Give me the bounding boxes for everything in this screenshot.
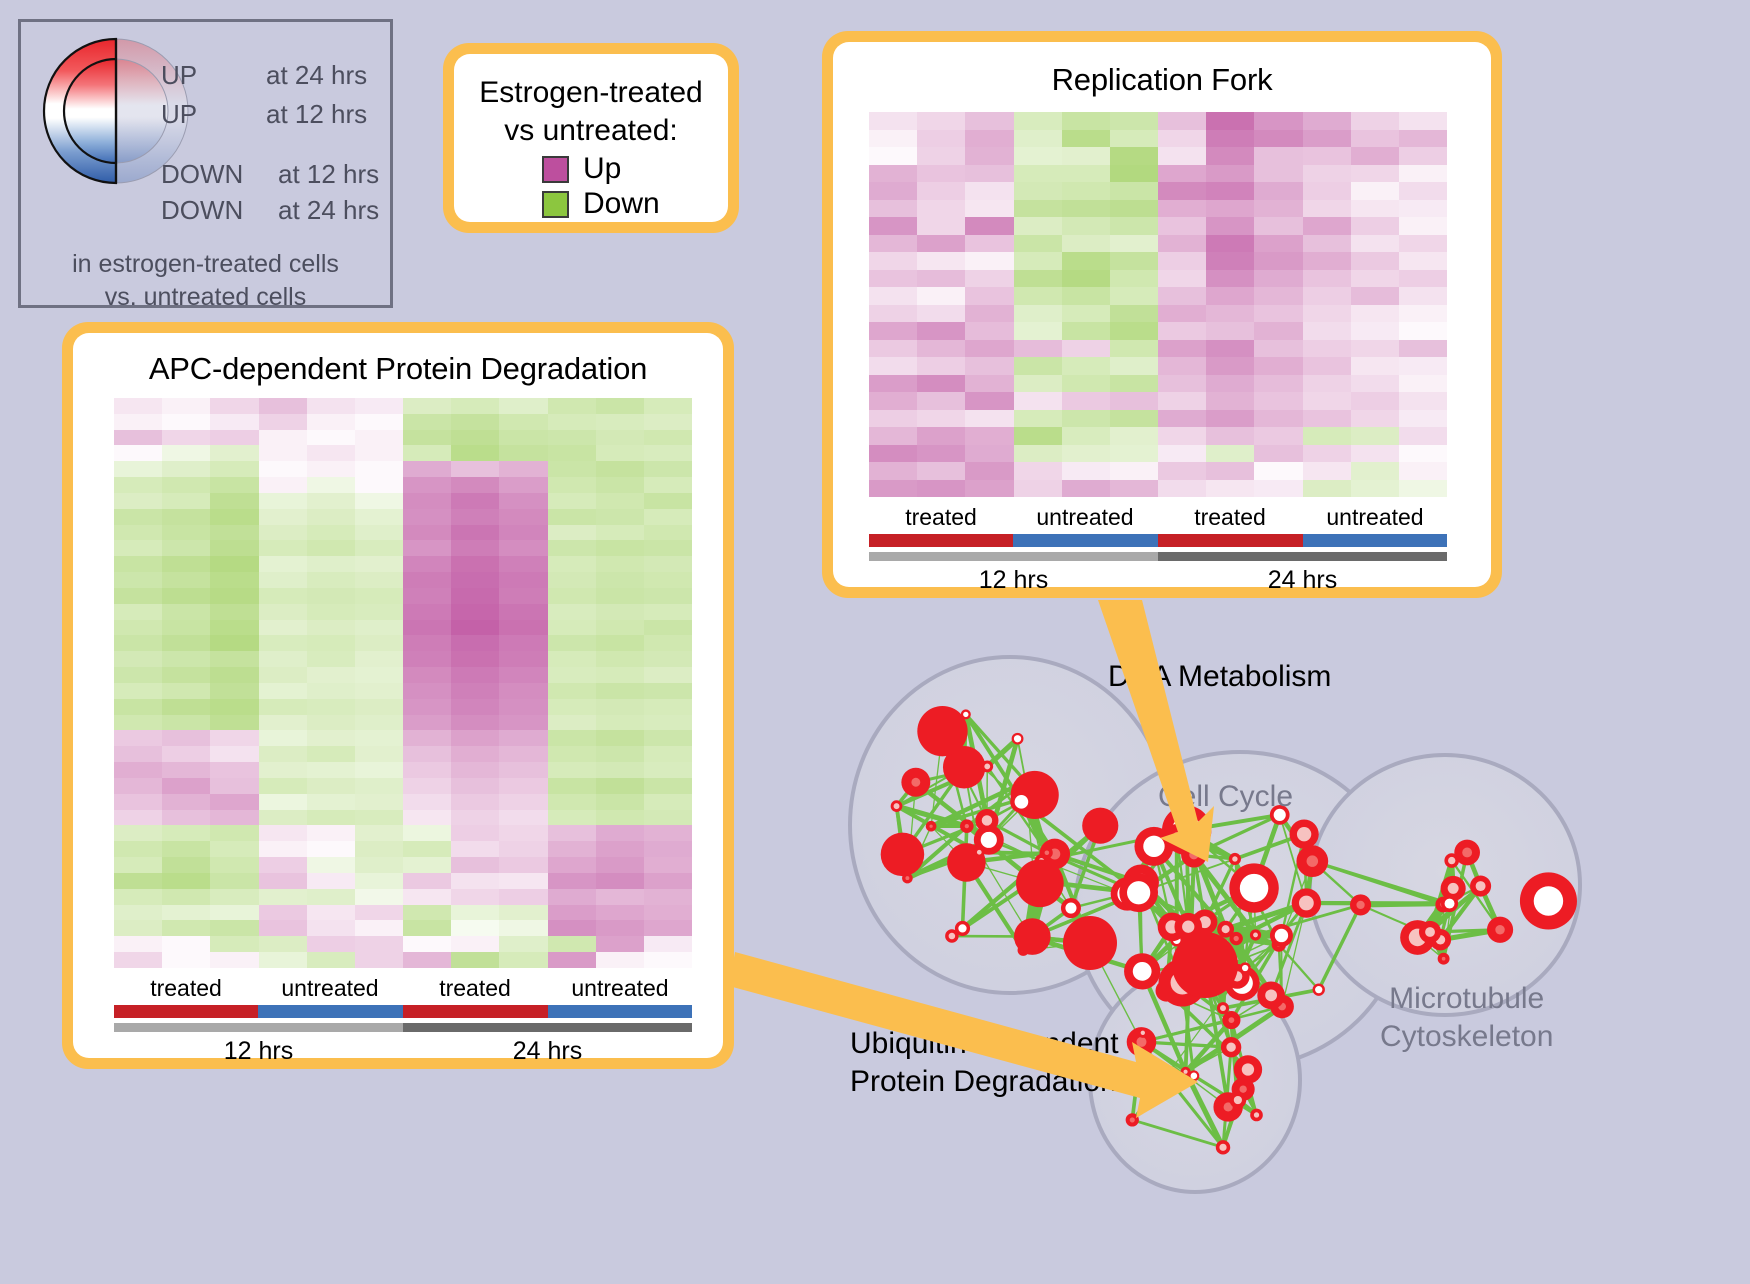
heatmap-cell (1399, 182, 1447, 200)
network-node[interactable] (1222, 1011, 1240, 1029)
network-node[interactable] (1016, 859, 1064, 907)
heatmap-cell (403, 540, 451, 556)
network-node[interactable] (1119, 873, 1158, 912)
heatmap-cell (596, 905, 644, 921)
heatmap-cell (596, 540, 644, 556)
heatmap-cell (965, 182, 1013, 200)
heatmap-cell (548, 920, 596, 936)
heatmap-cell (1158, 340, 1206, 358)
heatmap-cell (355, 873, 403, 889)
heatmap-cell (1351, 480, 1399, 498)
heatmap-cell (596, 525, 644, 541)
heatmap-cell (210, 540, 258, 556)
heatmap-cell (162, 889, 210, 905)
heatmap-cell (548, 540, 596, 556)
heatmap-cell (307, 762, 355, 778)
heatmap-cell (644, 746, 692, 762)
apc-degradation-heatmap (114, 398, 692, 968)
heatmap-cell (1062, 235, 1110, 253)
heatmap-cell (1351, 322, 1399, 340)
heatmap-cell (451, 936, 499, 952)
heatmap-cell (548, 651, 596, 667)
network-node-inner (1127, 881, 1150, 904)
heatmap-cell (355, 620, 403, 636)
network-node[interactable] (960, 819, 974, 833)
heatmap-cell (355, 588, 403, 604)
heatmap-cell (965, 410, 1013, 428)
heatmap-cell (1303, 287, 1351, 305)
network-node-inner (981, 832, 997, 848)
network-node[interactable] (1181, 842, 1207, 868)
apc-time-label-12: 12 hrs (114, 1037, 403, 1066)
heatmap-cell (1254, 130, 1302, 148)
heatmap-cell (1158, 165, 1206, 183)
heatmap-cell (596, 936, 644, 952)
heatmap-cell (259, 810, 307, 826)
cluster-label-microtubule-cytoskeleton: Microtubule Cytoskeleton (1380, 980, 1553, 1056)
figure-root: UP at 24 hrs UP at 12 hrs DOWN at 12 hrs… (0, 0, 1750, 1279)
apc-degradation-inner: APC-dependent Protein Degradation treate… (73, 333, 723, 1058)
heatmap-cell (355, 525, 403, 541)
heatmap-cell (1014, 340, 1062, 358)
heatmap-cell (1062, 480, 1110, 498)
heatmap-cell (1158, 287, 1206, 305)
heatmap-cell (114, 952, 162, 968)
network-node[interactable] (945, 929, 958, 942)
heatmap-cell (1399, 235, 1447, 253)
heatmap-cell (259, 604, 307, 620)
heatmap-cell (355, 905, 403, 921)
heatmap-cell (403, 635, 451, 651)
heatmap-cell (1014, 322, 1062, 340)
network-node[interactable] (1438, 953, 1450, 965)
heatmap-cell (403, 477, 451, 493)
network-node-inner (1234, 1096, 1242, 1104)
heatmap-cell (644, 730, 692, 746)
network-node[interactable] (981, 761, 993, 773)
heatmap-cell (499, 730, 547, 746)
network-node[interactable] (1010, 791, 1032, 813)
heatmap-cell (548, 778, 596, 794)
heatmap-cell (596, 493, 644, 509)
heatmap-cell (499, 841, 547, 857)
heatmap-cell (1014, 217, 1062, 235)
heatmap-cell (403, 952, 451, 968)
heatmap-cell (499, 699, 547, 715)
heatmap-cell (403, 683, 451, 699)
network-node[interactable] (1230, 932, 1243, 945)
heatmap-cell (162, 477, 210, 493)
network-node[interactable] (1470, 876, 1491, 897)
network-node[interactable] (1041, 847, 1053, 859)
legend-label-down: Down (583, 189, 660, 219)
heatmap-cell (499, 905, 547, 921)
heatmap-cell (548, 810, 596, 826)
heatmap-cell (1062, 340, 1110, 358)
heatmap-cell (1206, 410, 1254, 428)
heatmap-cell (1158, 252, 1206, 270)
heatmap-cell (644, 572, 692, 588)
network-node[interactable] (881, 833, 925, 877)
network-node-inner (929, 825, 932, 828)
network-node[interactable] (1250, 1109, 1263, 1122)
network-node-inner (1307, 855, 1318, 866)
network-node[interactable] (1126, 1113, 1139, 1126)
heatmap-cell (307, 778, 355, 794)
network-node-inner (958, 924, 966, 932)
heatmap-cell (355, 825, 403, 841)
network-node-inner (1297, 827, 1311, 841)
heatmap-cell (596, 746, 644, 762)
heatmap-cell (162, 794, 210, 810)
network-node[interactable] (1082, 808, 1118, 844)
network-node-inner (1476, 881, 1486, 891)
heatmap-cell (162, 572, 210, 588)
heatmap-cell (917, 480, 965, 498)
network-node[interactable] (1270, 924, 1293, 947)
heatmap-cell (917, 375, 965, 393)
heatmap-cell (259, 620, 307, 636)
heatmap-cell (1254, 235, 1302, 253)
network-node[interactable] (975, 809, 998, 832)
heatmap-cell (1351, 200, 1399, 218)
heatmap-cell (548, 746, 596, 762)
heatmap-cell (307, 841, 355, 857)
heatmap-cell (1399, 305, 1447, 323)
heatmap-cell (114, 905, 162, 921)
network-node-inner (1253, 933, 1258, 938)
heatmap-cell (307, 398, 355, 414)
heatmap-cell (307, 730, 355, 746)
network-node[interactable] (1454, 840, 1480, 866)
heatmap-cell (162, 699, 210, 715)
network-node-inner (1189, 850, 1198, 859)
heatmap-cell (644, 841, 692, 857)
heatmap-cell (499, 762, 547, 778)
heatmap-cell (403, 651, 451, 667)
network-node[interactable] (1257, 982, 1285, 1010)
heatmap-cell (403, 841, 451, 857)
heatmap-cell (1158, 462, 1206, 480)
heatmap-cell (1351, 340, 1399, 358)
heatmap-cell (1110, 182, 1158, 200)
heatmap-cell (162, 509, 210, 525)
apc-group-label-0: treated (114, 975, 258, 1002)
heatmap-cell (965, 480, 1013, 498)
heatmap-cell (869, 305, 917, 323)
heatmap-cell (1014, 165, 1062, 183)
heatmap-cell (917, 165, 965, 183)
heatmap-cell (114, 540, 162, 556)
heatmap-cell (403, 414, 451, 430)
heatmap-cell (869, 217, 917, 235)
heatmap-cell (1110, 235, 1158, 253)
network-node[interactable] (1138, 1028, 1148, 1038)
heatmap-cell (499, 667, 547, 683)
heatmap-cell (355, 477, 403, 493)
heatmap-cell (548, 509, 596, 525)
heatmap-cell (355, 889, 403, 905)
heatmap-cell (114, 794, 162, 810)
heatmap-cell (307, 873, 355, 889)
heatmap-cell (1158, 480, 1206, 498)
heatmap-cell (307, 920, 355, 936)
heatmap-cell (451, 651, 499, 667)
heatmap-cell (403, 667, 451, 683)
heatmap-cell (114, 525, 162, 541)
network-node-inner (1232, 856, 1237, 861)
heatmap-cell (114, 730, 162, 746)
heatmap-cell (1110, 462, 1158, 480)
heatmap-cell (499, 620, 547, 636)
legend-heading-line1: Estrogen-treated (454, 74, 728, 112)
heatmap-cell (499, 588, 547, 604)
heatmap-cell (210, 398, 258, 414)
heatmap-cell (869, 410, 917, 428)
heatmap-cell (451, 604, 499, 620)
heatmap-cell (1014, 287, 1062, 305)
heatmap-cell (210, 936, 258, 952)
heatmap-cell (644, 905, 692, 921)
apc-group-bar-untreated-24 (548, 1005, 692, 1018)
heatmap-cell (1351, 305, 1399, 323)
heatmap-cell (403, 920, 451, 936)
network-node[interactable] (1014, 918, 1051, 955)
network-node[interactable] (1350, 894, 1371, 915)
heatmap-cell (1303, 270, 1351, 288)
network-node-inner (1136, 1037, 1146, 1047)
network-node-outer (881, 833, 925, 877)
network-node[interactable] (1221, 1037, 1241, 1057)
heatmap-cell (403, 936, 451, 952)
heatmap-cell (210, 715, 258, 731)
heatmap-cell (162, 430, 210, 446)
heatmap-cell (644, 414, 692, 430)
heatmap-cell (210, 778, 258, 794)
heatmap-cell (596, 667, 644, 683)
heatmap-cell (403, 778, 451, 794)
heatmap-cell (965, 357, 1013, 375)
network-node-outer (1172, 932, 1238, 998)
heatmap-cell (355, 604, 403, 620)
rf-group-label-1: untreated (1013, 504, 1157, 531)
heatmap-cell (869, 392, 917, 410)
heatmap-cell (1254, 392, 1302, 410)
heatmap-cell (1158, 392, 1206, 410)
network-node[interactable] (1230, 1092, 1247, 1109)
network-node[interactable] (1296, 845, 1328, 877)
network-node-inner (1448, 857, 1455, 864)
heatmap-cell (162, 445, 210, 461)
heatmap-cell (548, 556, 596, 572)
legend-item-up: Up (542, 154, 621, 184)
heatmap-cell (355, 540, 403, 556)
heatmap-cell (451, 857, 499, 873)
heatmap-cell (917, 322, 965, 340)
network-node[interactable] (1487, 917, 1513, 943)
heatmap-cell (499, 525, 547, 541)
heatmap-cell (1351, 392, 1399, 410)
heatmap-cell (1303, 392, 1351, 410)
heatmap-cell (1014, 427, 1062, 445)
heatmap-cell (965, 340, 1013, 358)
heatmap-cell (1399, 375, 1447, 393)
heatmap-cell (403, 572, 451, 588)
heatmap-cell (403, 794, 451, 810)
heatmap-cell (307, 651, 355, 667)
heatmap-cell (1303, 445, 1351, 463)
network-node[interactable] (1188, 1070, 1199, 1081)
rf-group-bar-untreated-12 (1013, 534, 1158, 547)
key-caption-line1: in estrogen-treated cells (21, 248, 390, 281)
heatmap-cell (162, 604, 210, 620)
heatmap-cell (1399, 357, 1447, 375)
network-node[interactable] (1124, 953, 1160, 989)
heatmap-cell (644, 604, 692, 620)
heatmap-cell (596, 635, 644, 651)
heatmap-cell (965, 112, 1013, 130)
heatmap-cell (548, 905, 596, 921)
network-node-inner (977, 850, 982, 855)
network-node[interactable] (1061, 898, 1081, 918)
heatmap-cell (451, 778, 499, 794)
heatmap-cell (355, 778, 403, 794)
network-node[interactable] (1012, 733, 1024, 745)
heatmap-cell (114, 509, 162, 525)
heatmap-cell (403, 461, 451, 477)
heatmap-cell (1303, 165, 1351, 183)
heatmap-cell (114, 477, 162, 493)
heatmap-cell (403, 746, 451, 762)
heatmap-cell (162, 398, 210, 414)
heatmap-cell (1110, 357, 1158, 375)
heatmap-cell (644, 762, 692, 778)
heatmap-cell (499, 810, 547, 826)
network-node-inner (965, 824, 969, 828)
heatmap-cell (1303, 322, 1351, 340)
network-node[interactable] (1289, 820, 1318, 849)
heatmap-cell (869, 112, 917, 130)
heatmap-cell (210, 841, 258, 857)
network-node[interactable] (1520, 872, 1577, 929)
heatmap-cell (162, 873, 210, 889)
heatmap-cell (644, 588, 692, 604)
heatmap-cell (210, 509, 258, 525)
heatmap-cell (1351, 445, 1399, 463)
network-node[interactable] (1229, 853, 1241, 865)
network-node-inner (1015, 795, 1029, 809)
network-node[interactable] (974, 847, 985, 858)
heatmap-cell (210, 730, 258, 746)
network-node[interactable] (901, 768, 930, 797)
network-node[interactable] (1441, 895, 1458, 912)
network-node[interactable] (1239, 962, 1250, 973)
heatmap-cell (1110, 200, 1158, 218)
heatmap-cell (259, 445, 307, 461)
key-caption-line2: vs. untreated cells (21, 281, 390, 314)
heatmap-cell (1303, 112, 1351, 130)
network-node[interactable] (1313, 983, 1325, 995)
heatmap-cell (259, 667, 307, 683)
heatmap-cell (114, 667, 162, 683)
heatmap-cell (451, 905, 499, 921)
heatmap-cell (307, 556, 355, 572)
heatmap-cell (1206, 252, 1254, 270)
heatmap-cell (644, 699, 692, 715)
heatmap-cell (596, 699, 644, 715)
heatmap-cell (1158, 217, 1206, 235)
network-node-inner (1229, 1017, 1235, 1023)
heatmap-cell (451, 572, 499, 588)
network-node[interactable] (926, 821, 937, 832)
network-node-inner (1222, 925, 1230, 933)
heatmap-cell (210, 920, 258, 936)
heatmap-cell (917, 235, 965, 253)
network-node[interactable] (1250, 929, 1261, 940)
heatmap-cell (869, 182, 917, 200)
heatmap-cell (451, 620, 499, 636)
network-node[interactable] (1234, 1055, 1262, 1083)
heatmap-cell (114, 572, 162, 588)
network-node[interactable] (1216, 1140, 1230, 1154)
replication-fork-inner: Replication Fork treated untreated treat… (833, 42, 1491, 587)
heatmap-cell (548, 477, 596, 493)
heatmap-cell (644, 445, 692, 461)
heatmap-cell (1014, 147, 1062, 165)
heatmap-cell (1014, 252, 1062, 270)
heatmap-cell (403, 525, 451, 541)
network-node-inner (1164, 1074, 1168, 1078)
network-node[interactable] (1063, 916, 1117, 970)
network-node-inner (1130, 1117, 1135, 1122)
network-node[interactable] (1419, 921, 1441, 943)
legend-heading-line2: vs untreated: (454, 112, 728, 150)
heatmap-cell (355, 572, 403, 588)
network-node[interactable] (1161, 1070, 1172, 1081)
heatmap-cell (596, 952, 644, 968)
network-node[interactable] (1229, 863, 1278, 912)
network-node-inner (1234, 936, 1239, 941)
heatmap-cell (596, 794, 644, 810)
rf-group-bar-treated-24 (1158, 534, 1303, 547)
heatmap-cell (548, 730, 596, 746)
heatmap-cell (114, 398, 162, 414)
network-node[interactable] (1134, 827, 1173, 866)
heatmap-cell (162, 651, 210, 667)
apc-group-label-3: untreated (548, 975, 692, 1002)
network-node[interactable] (917, 706, 967, 756)
heatmap-cell (210, 445, 258, 461)
network-node[interactable] (1172, 932, 1238, 998)
network-node[interactable] (1292, 888, 1321, 917)
heatmap-cell (1254, 480, 1302, 498)
heatmap-cell (162, 525, 210, 541)
network-node-inner (984, 763, 990, 769)
heatmap-cell (1351, 112, 1399, 130)
heatmap-cell (1110, 112, 1158, 130)
heatmap-cell (548, 588, 596, 604)
heatmap-cell (259, 873, 307, 889)
heatmap-cell (259, 699, 307, 715)
network-node[interactable] (891, 800, 903, 812)
heatmap-cell (548, 889, 596, 905)
heatmap-cell (162, 493, 210, 509)
heatmap-cell (403, 430, 451, 446)
heatmap-cell (403, 810, 451, 826)
heatmap-cell (307, 477, 355, 493)
heatmap-cell (917, 340, 965, 358)
heatmap-cell (965, 445, 1013, 463)
